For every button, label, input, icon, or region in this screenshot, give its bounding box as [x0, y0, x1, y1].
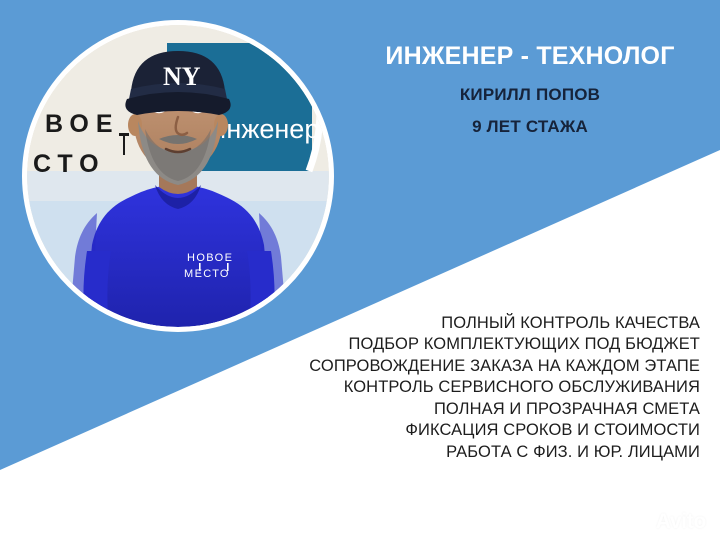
portrait-photo: ВОЕ СТО Инженер — [27, 25, 329, 327]
experience-label: 9 ЛЕТ СТАЖА — [340, 105, 720, 137]
svg-text:ВОЕ: ВОЕ — [45, 110, 120, 138]
feature-item: ФИКСАЦИЯ СРОКОВ И СТОИМОСТИ — [260, 420, 700, 441]
feature-item: ПОДБОР КОМПЛЕКТУЮЩИХ ПОД БЮДЖЕТ — [260, 334, 700, 355]
features-list: ПОЛНЫЙ КОНТРОЛЬ КАЧЕСТВА ПОДБОР КОМПЛЕКТ… — [260, 313, 700, 463]
feature-item: ПОЛНАЯ И ПРОЗРАЧНАЯ СМЕТА — [260, 399, 700, 420]
specialist-name: КИРИЛЛ ПОПОВ — [340, 71, 720, 105]
svg-text:СТО: СТО — [33, 150, 106, 178]
svg-text:МЕСТО: МЕСТО — [184, 268, 230, 280]
feature-item: СОПРОВОЖДЕНИЕ ЗАКАЗА НА КАЖДОМ ЭТАПЕ — [260, 356, 700, 377]
feature-item: ПОЛНЫЙ КОНТРОЛЬ КАЧЕСТВА — [260, 313, 700, 334]
headline-block: ИНЖЕНЕР - ТЕХНОЛОГ КИРИЛЛ ПОПОВ 9 ЛЕТ СТ… — [340, 42, 720, 138]
poster-canvas: ВОЕ СТО Инженер — [0, 0, 720, 540]
feature-item: КОНТРОЛЬ СЕРВИСНОГО ОБСЛУЖИВАНИЯ — [260, 377, 700, 398]
svg-text:НОВОЕ: НОВОЕ — [187, 252, 233, 264]
portrait-illustration: ВОЕ СТО Инженер — [27, 25, 329, 327]
svg-text:NY: NY — [163, 62, 201, 91]
portrait-circle-frame: ВОЕ СТО Инженер — [22, 20, 334, 332]
feature-item: РАБОТА С ФИЗ. И ЮР. ЛИЦАМИ — [260, 442, 700, 463]
page-title: ИНЖЕНЕР - ТЕХНОЛОГ — [340, 42, 720, 71]
